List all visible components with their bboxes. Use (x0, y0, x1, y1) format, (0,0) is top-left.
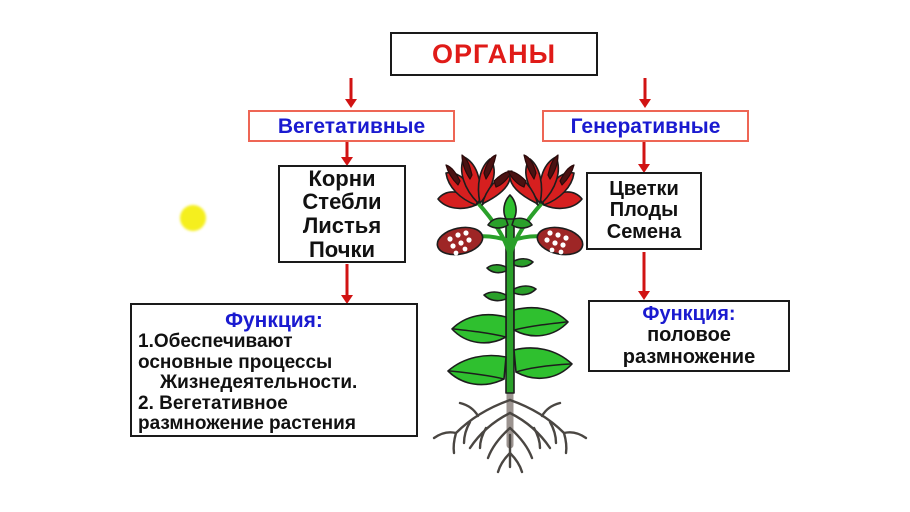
leaf (452, 315, 506, 343)
function-line: половое (647, 325, 731, 347)
fruit (435, 224, 485, 259)
function-line: 1.Обеспечивают (132, 332, 416, 353)
organ-list-generative: Цветки Плоды Семена (586, 172, 702, 250)
function-line: размножение растения (132, 414, 416, 435)
diagram-canvas: ОРГАНЫ Вегетативные Генеративные Корни С… (0, 0, 910, 512)
function-title: Функция: (132, 310, 416, 332)
leaf (448, 356, 506, 385)
leaf (514, 308, 568, 336)
title-box: ОРГАНЫ (390, 32, 598, 76)
organ-item: Корни (308, 167, 375, 191)
category-box-vegetative: Вегетативные (248, 110, 455, 142)
arrow-organs-to-function-generative (637, 252, 651, 300)
function-title: Функция: (642, 304, 735, 325)
arrow-organs-to-function-vegetative (340, 264, 354, 304)
title-label: ОРГАНЫ (432, 41, 556, 68)
arrow-vegetative-to-organs (340, 142, 354, 166)
root-system (434, 391, 586, 472)
arrow-generative-to-organs (637, 142, 651, 173)
flower (438, 155, 512, 208)
arrow-title-to-generative (638, 78, 652, 108)
organ-item: Цветки (609, 179, 679, 200)
yellow-dot-decoration (180, 205, 206, 231)
organ-item: Плоды (610, 200, 679, 221)
bud (504, 195, 516, 219)
fruit (535, 224, 585, 259)
arrow-title-to-vegetative (344, 78, 358, 108)
function-line: основные процессы (132, 353, 416, 374)
organ-item: Почки (309, 238, 375, 262)
organ-item: Листья (303, 214, 381, 238)
category-label-generative: Генеративные (571, 116, 721, 137)
function-line: Жизнедеятельности. (132, 373, 416, 394)
organ-list-vegetative: Корни Стебли Листья Почки (278, 165, 406, 263)
flower (508, 155, 582, 208)
function-line: размножение (623, 347, 755, 369)
leaf (514, 348, 572, 378)
function-box-vegetative: Функция: 1.Обеспечивают основные процесс… (130, 303, 418, 437)
organ-item: Семена (607, 222, 681, 243)
function-line: 2. Вегетативное (132, 394, 416, 415)
organ-item: Стебли (302, 190, 381, 214)
category-box-generative: Генеративные (542, 110, 749, 142)
function-box-generative: Функция: половое размножение (588, 300, 790, 372)
flowering-plant-illustration (420, 145, 600, 495)
category-label-vegetative: Вегетативные (278, 116, 425, 137)
